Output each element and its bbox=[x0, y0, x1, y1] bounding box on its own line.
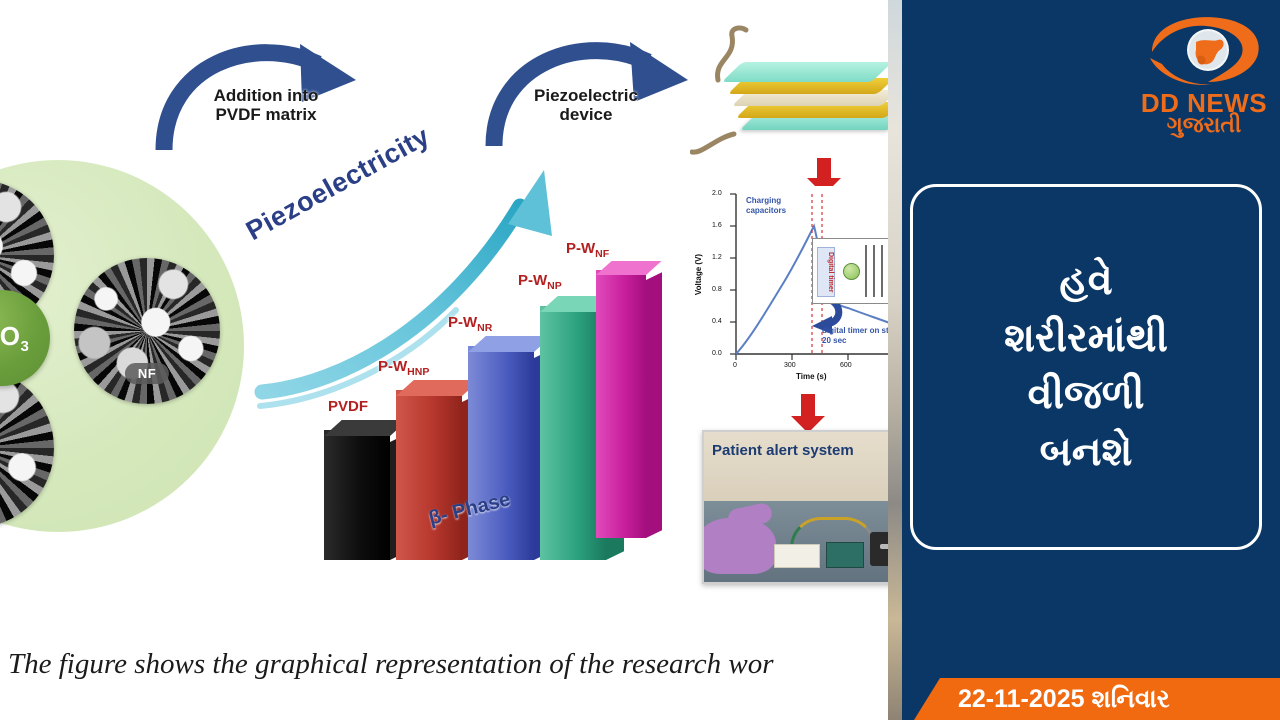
dd-news-logo: DD NEWS ગુજરાતી bbox=[1138, 8, 1270, 146]
piezoelectric-device-stack bbox=[712, 52, 898, 156]
headline-line-4: બનશે bbox=[1004, 424, 1168, 481]
plot-xlabel: Time (s) bbox=[796, 372, 827, 381]
inset-led-icon bbox=[843, 263, 860, 280]
plot-ytick-0: 0.0 bbox=[712, 350, 722, 357]
plot-xtick-2: 600 bbox=[840, 362, 852, 369]
date-banner: 22-11-2025 શનિવાર bbox=[914, 678, 1280, 720]
plot-xtick-1: 300 bbox=[784, 362, 796, 369]
piezoelectricity-bar-chart: PVDF P-WHNP P-WNR bbox=[300, 250, 640, 580]
arrow-1-label: Addition into PVDF matrix bbox=[186, 86, 346, 125]
bar-label-pvdf: PVDF bbox=[328, 398, 368, 418]
bar-pvdf bbox=[324, 430, 390, 560]
photo-breadboard bbox=[774, 544, 820, 568]
news-panel: DD NEWS ગુજરાતી હવે શરીરમાંથી વીજળી બનશે bbox=[902, 0, 1280, 720]
dd-news-language: ગુજરાતી bbox=[1138, 112, 1270, 138]
bar-label-p-w-nf: P-WNF bbox=[566, 240, 609, 260]
wo3-subscript: 3 bbox=[20, 338, 29, 355]
plot-ytick-5: 2.0 bbox=[712, 190, 722, 197]
voltage-time-plot: 2.0 1.6 1.2 0.8 0.4 0.0 0 300 600 900 Ti… bbox=[700, 186, 902, 386]
headline-line-2: શરીરમાંથી bbox=[1004, 310, 1168, 367]
plot-ytick-4: 1.6 bbox=[712, 222, 722, 229]
photo-title: Patient alert system bbox=[712, 442, 854, 459]
wo3-label: WO bbox=[0, 321, 20, 351]
sem-texture bbox=[0, 368, 54, 528]
bar-label-p-w-nr: P-WNR bbox=[448, 314, 492, 334]
red-down-arrow-2-icon bbox=[790, 394, 826, 434]
date-text: 22-11-2025 શનિવાર bbox=[958, 685, 1170, 714]
patient-alert-system-photo: Patient alert system bbox=[702, 430, 902, 584]
bar-label-p-w-hnp: P-WHNP bbox=[378, 358, 429, 378]
bar-label-p-w-np: P-WNP bbox=[518, 272, 562, 292]
headline-line-3: વીજળી bbox=[1004, 367, 1168, 424]
plot-ylabel: Voltage (V) bbox=[694, 254, 703, 295]
bar-p-w-hnp bbox=[396, 390, 462, 560]
dd-eye-globe-icon bbox=[1146, 12, 1264, 90]
sem-tag-nf: NF bbox=[125, 363, 169, 384]
plot-ytick-1: 0.4 bbox=[712, 318, 722, 325]
bar-p-w-nf bbox=[596, 270, 646, 538]
photo-microcontroller bbox=[826, 542, 864, 568]
figure-caption: The figure shows the graphical represent… bbox=[8, 648, 902, 681]
plot-xtick-0: 0 bbox=[733, 362, 737, 369]
headline-text: હવે શરીરમાંથી વીજળી બનશે bbox=[1004, 253, 1168, 480]
headline-box: હવે શરીરમાંથી વીજળી બનશે bbox=[910, 184, 1262, 550]
research-figure: NR NF NP WO3 Addition into PVDF matrix bbox=[0, 0, 902, 720]
bar-p-w-nr bbox=[468, 346, 534, 560]
plot-ytick-3: 1.2 bbox=[712, 254, 722, 261]
inset-digital-timer-label: Digital timer bbox=[817, 247, 835, 297]
sem-image-nf: NF bbox=[74, 258, 220, 404]
photo-glove bbox=[702, 518, 776, 574]
background-photo-strip bbox=[888, 0, 902, 720]
headline-line-1: હવે bbox=[1004, 253, 1168, 310]
sem-image-np: NP bbox=[0, 368, 54, 528]
arrow-2-label: Piezoelectric device bbox=[502, 86, 670, 125]
plot-ytick-2: 0.8 bbox=[712, 286, 722, 293]
plot-annotation-charging: Charging capacitors bbox=[746, 196, 812, 215]
news-broadcast-frame: NR NF NP WO3 Addition into PVDF matrix bbox=[0, 0, 1280, 720]
